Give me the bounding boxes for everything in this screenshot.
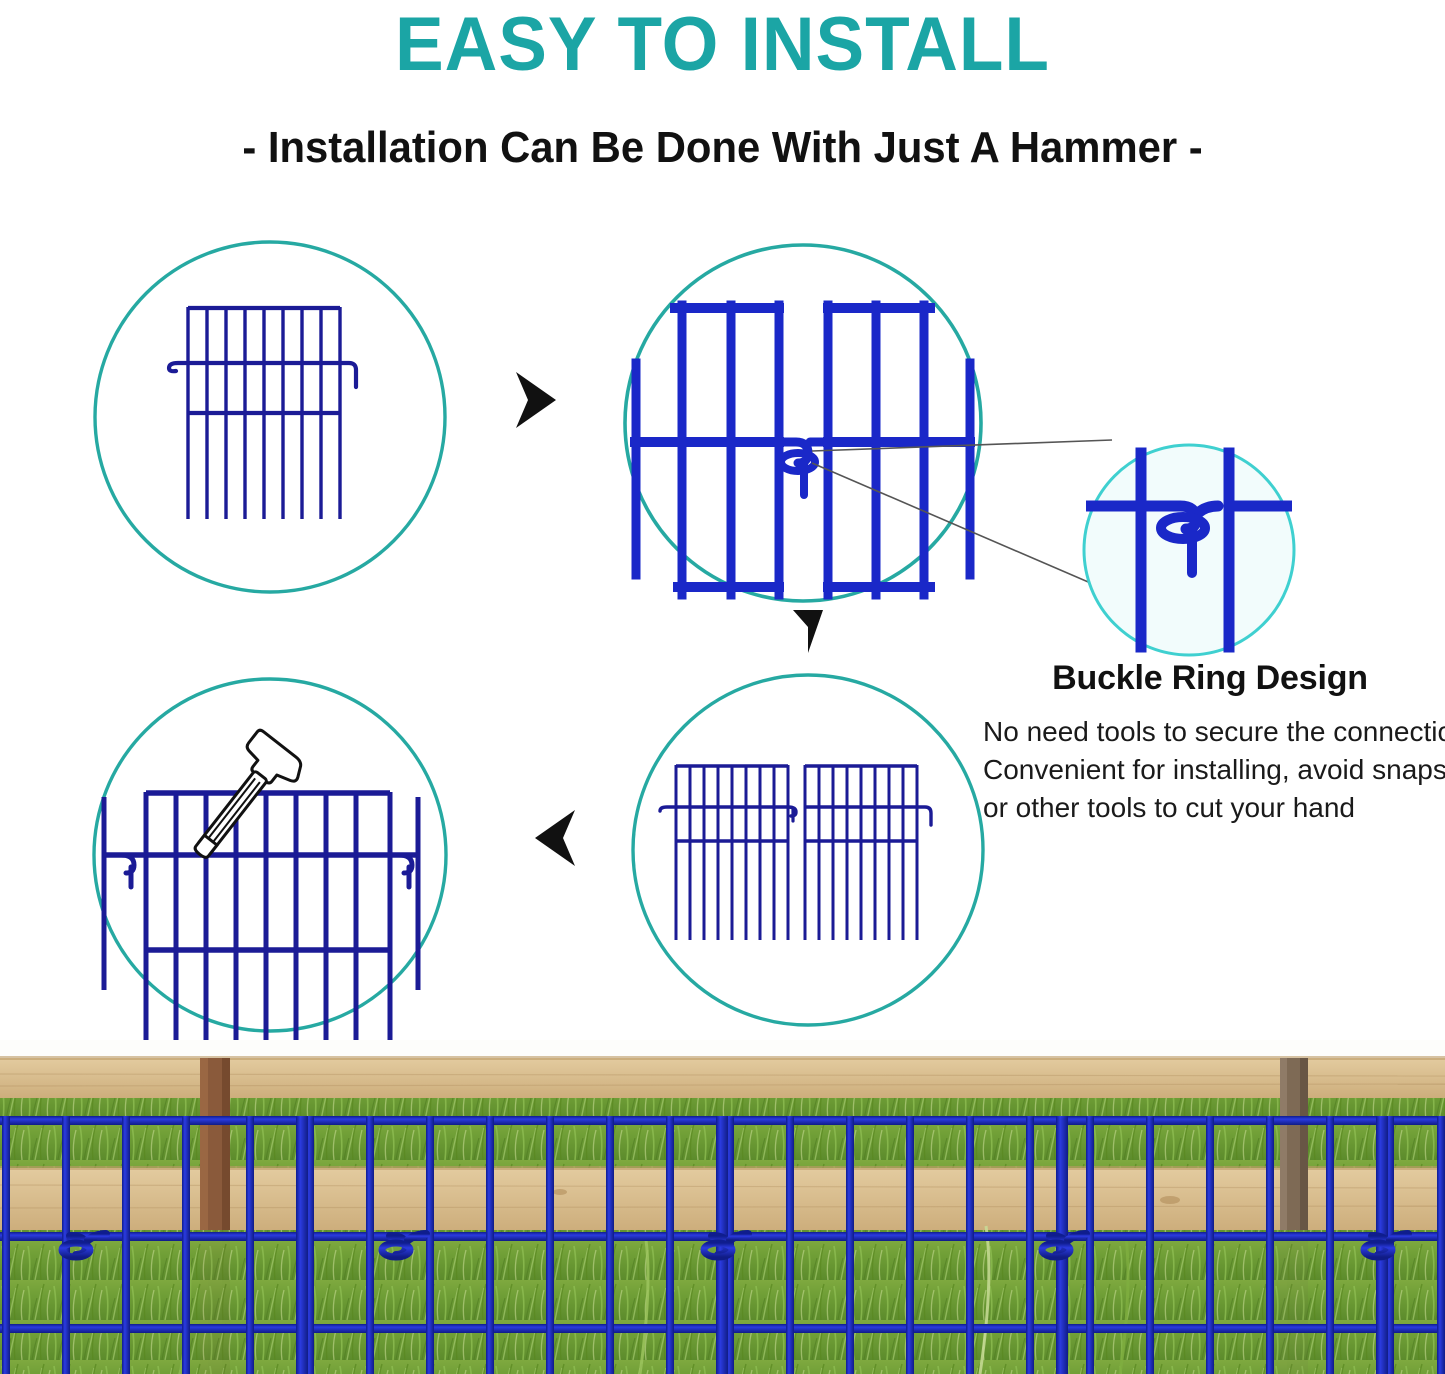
arrow-left-icon [535, 810, 575, 866]
page-subtitle: - Installation Can Be Done With Just A H… [36, 118, 1409, 178]
hammer-icon [176, 729, 307, 873]
step-1-circle [95, 242, 445, 592]
buckle-line-2: Convenient for installing, avoid snaps [975, 751, 1445, 789]
buckle-line-3: or other tools to cut your hand [975, 789, 1445, 827]
step-3-circle [633, 675, 983, 1025]
installation-diagram [0, 195, 1445, 1040]
installed-fence-photo [0, 1040, 1445, 1374]
step-4-circle [94, 679, 446, 1040]
buckle-ring-text-block: Buckle Ring Design No need tools to secu… [975, 655, 1445, 827]
arrow-down-icon [793, 610, 823, 653]
buckle-detail-circle [1084, 445, 1294, 655]
buckle-ring-description: No need tools to secure the connection C… [975, 713, 1445, 827]
arrow-right-icon [516, 372, 556, 428]
step-2-circle [625, 245, 1130, 601]
buckle-line-1: No need tools to secure the connection [975, 713, 1445, 751]
buckle-ring-icon [781, 442, 823, 495]
buckle-ring-heading: Buckle Ring Design [975, 655, 1445, 701]
page-title: EASY TO INSTALL [29, 2, 1416, 88]
